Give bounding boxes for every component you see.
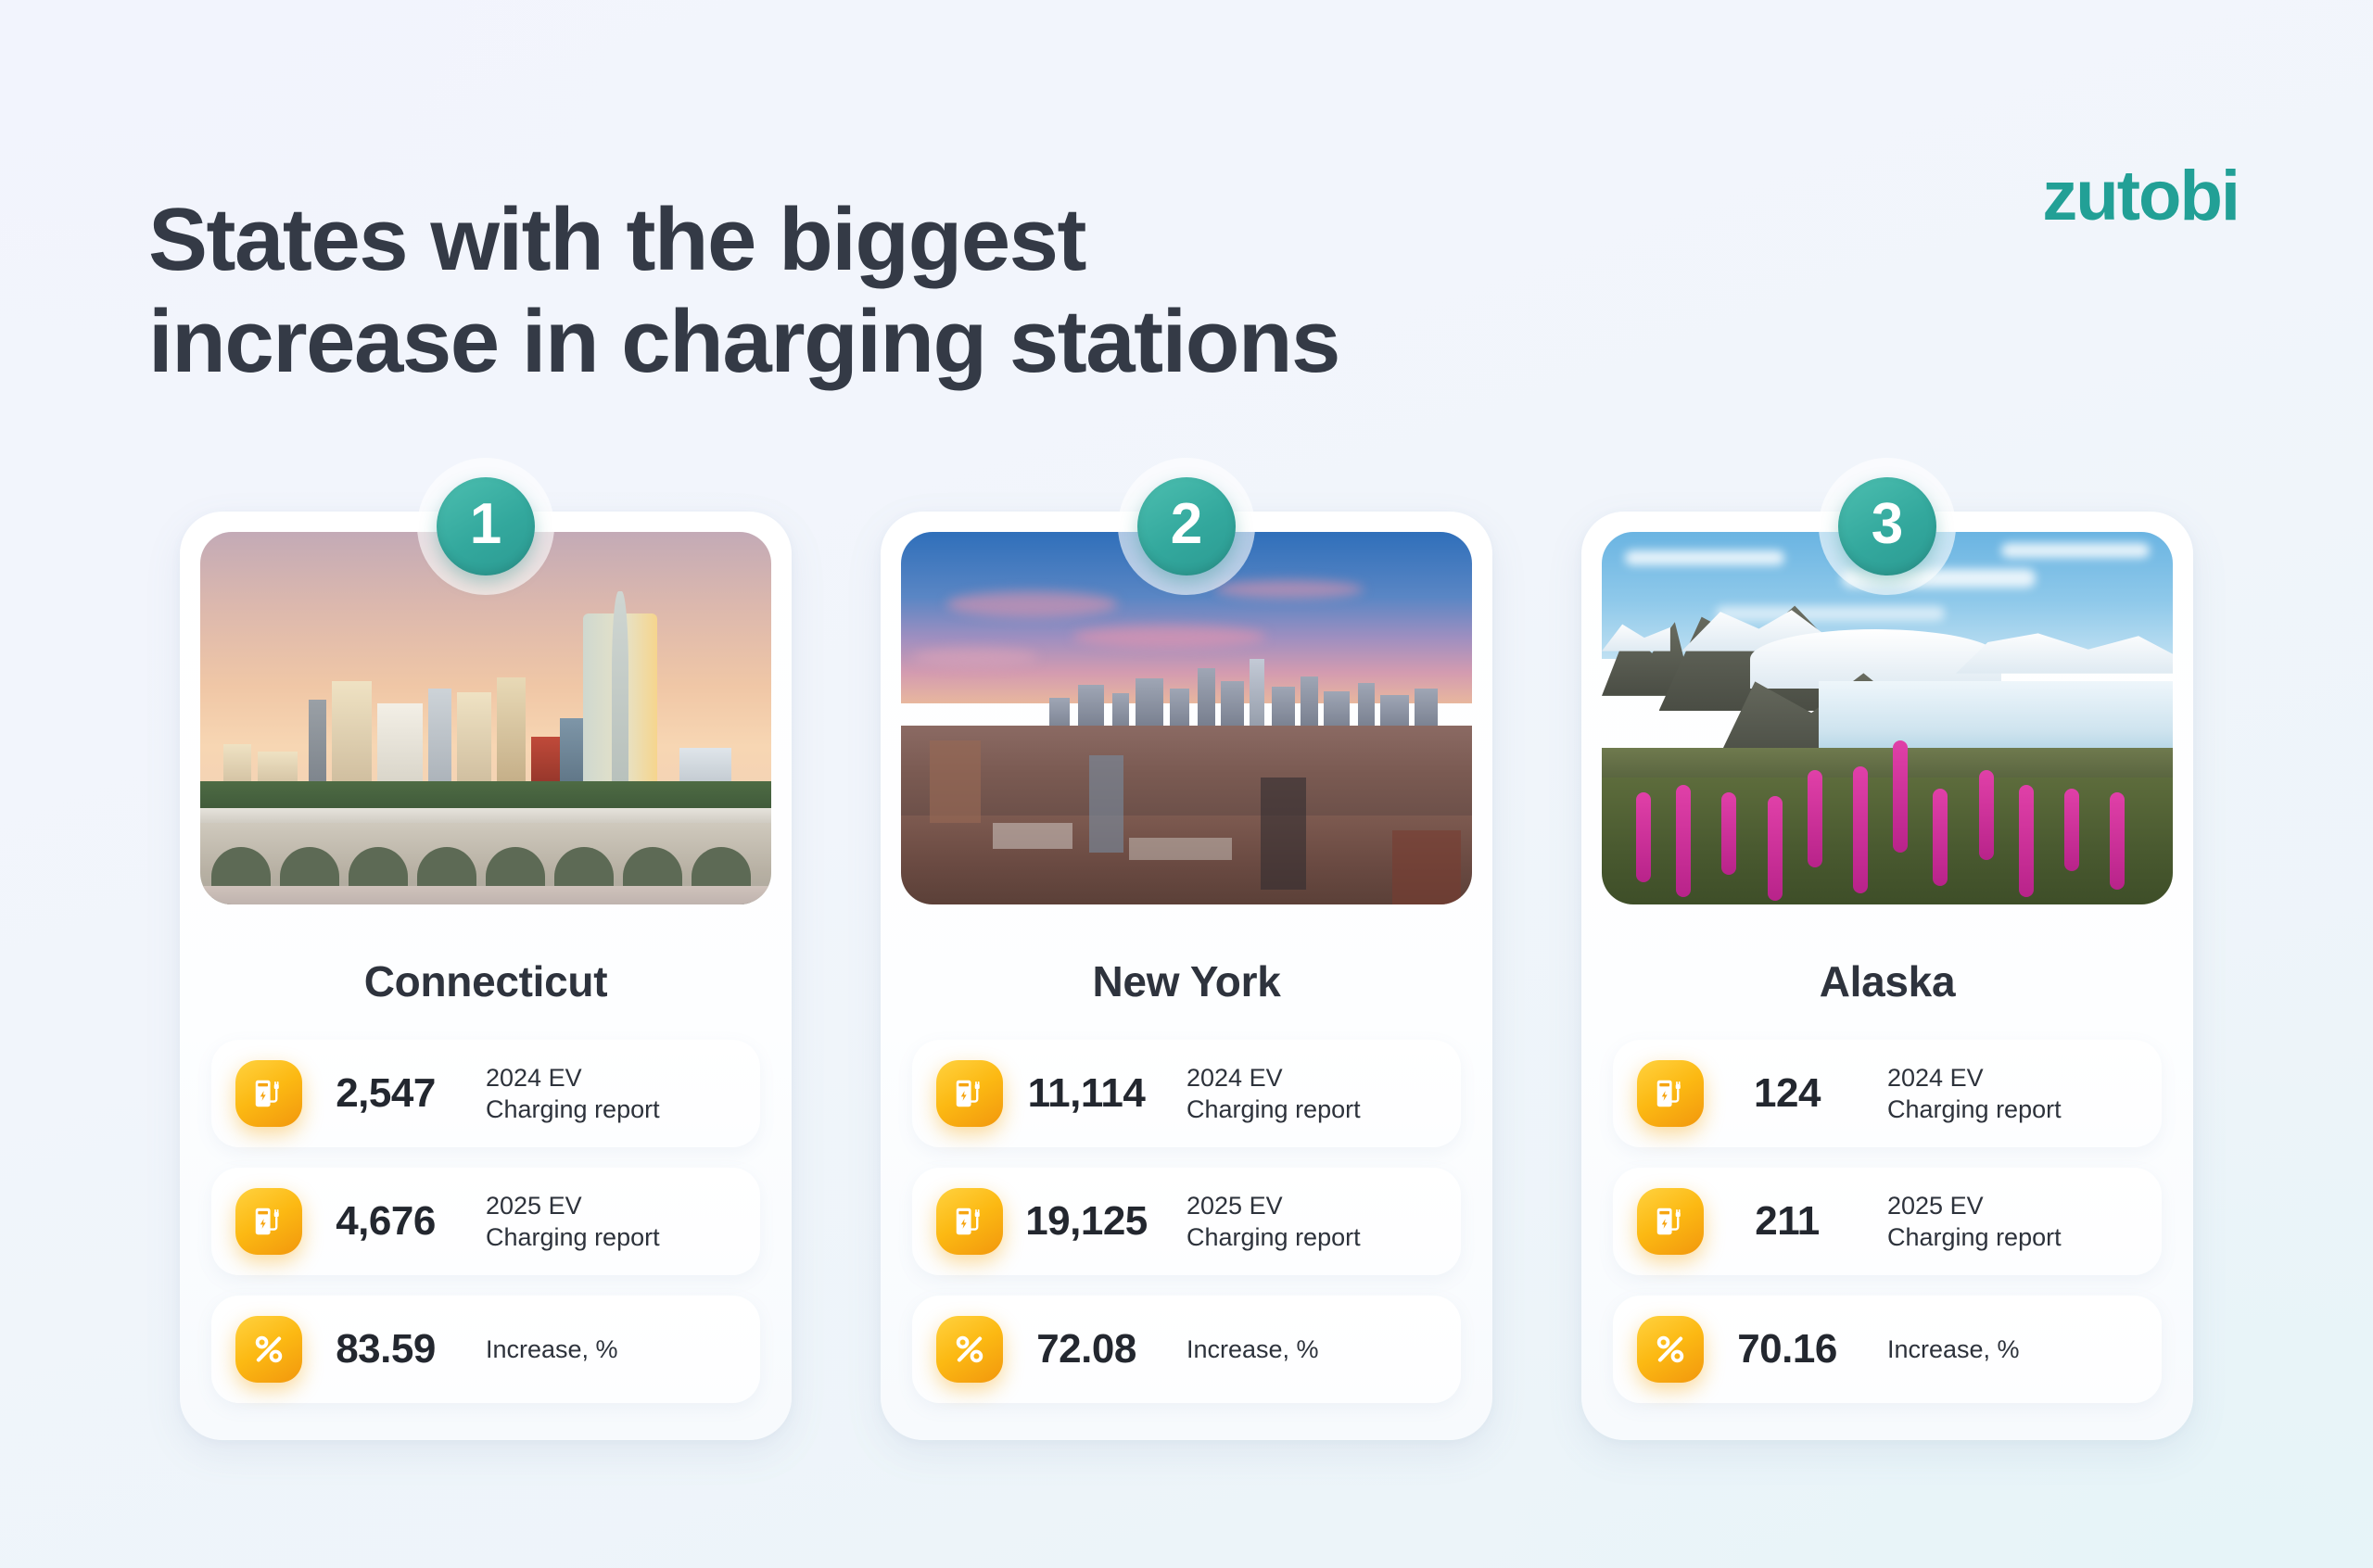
state-name-2: New York [901,956,1472,1006]
stat-label-line-1: 2025 EV [1186,1190,1437,1221]
stat-label-line-1: 2024 EV [1887,1062,2138,1094]
stat-label: Increase, % [1170,1334,1437,1365]
stat-label-line-2: Charging report [1887,1094,2138,1125]
stat-label-line-2: Charging report [1186,1094,1437,1125]
stat-label-line-1: 2024 EV [486,1062,736,1094]
stat-label: 2024 EV Charging report [1170,1062,1437,1125]
page-title-line-1: States with the biggest [148,189,1724,290]
ev-charging-station-icon [235,1188,302,1255]
ev-charging-station-icon [1637,1060,1704,1127]
stat-value: 2,547 [302,1070,469,1117]
stat-label-line-1: Increase, % [1186,1334,1437,1365]
state-card-3: 3 [1581,512,2193,1440]
stat-value: 124 [1704,1070,1871,1117]
state-name-1: Connecticut [200,956,771,1006]
rank-badge-1: 1 [417,458,554,595]
stat-label-line-1: Increase, % [1887,1334,2138,1365]
stat-value: 70.16 [1704,1326,1871,1372]
stat-label: 2025 EV Charging report [1871,1190,2138,1253]
stat-label-line-2: Charging report [486,1221,736,1253]
stat-row-2024-3: 124 2024 EV Charging report [1613,1040,2162,1147]
rank-badge-number-1: 1 [437,477,535,575]
stat-row-2025-2: 19,125 2025 EV Charging report [912,1168,1461,1275]
state-cards-row: 1 [0,512,2373,1440]
stat-row-increase-2: 72.08 Increase, % [912,1296,1461,1403]
stat-row-increase-3: 70.16 Increase, % [1613,1296,2162,1403]
stat-label-line-1: 2025 EV [486,1190,736,1221]
stat-label-line-1: 2025 EV [1887,1190,2138,1221]
ev-charging-station-icon [1637,1188,1704,1255]
zutobi-logo: zutobi [2042,156,2239,236]
stat-row-2024-2: 11,114 2024 EV Charging report [912,1040,1461,1147]
percent-icon [235,1316,302,1383]
stat-label: Increase, % [1871,1334,2138,1365]
stat-value: 4,676 [302,1198,469,1245]
state-card-1: 1 [180,512,792,1440]
page-title-line-2: increase in charging stations [148,291,1724,392]
rank-badge-2: 2 [1118,458,1255,595]
stat-label-line-1: 2024 EV [1186,1062,1437,1094]
page-title: States with the biggest increase in char… [148,189,1724,392]
stat-label: 2025 EV Charging report [469,1190,736,1253]
stat-label-line-1: Increase, % [486,1334,736,1365]
percent-icon [936,1316,1003,1383]
percent-icon [1637,1316,1704,1383]
stat-value: 72.08 [1003,1326,1170,1372]
state-name-3: Alaska [1602,956,2173,1006]
state-card-2: 2 [881,512,1492,1440]
stat-value: 211 [1704,1198,1871,1245]
stat-row-increase-1: 83.59 Increase, % [211,1296,760,1403]
stat-row-2024-1: 2,547 2024 EV Charging report [211,1040,760,1147]
stat-value: 83.59 [302,1326,469,1372]
infographic-page: States with the biggest increase in char… [0,0,2373,1568]
rank-badge-3: 3 [1819,458,1956,595]
stat-label: 2024 EV Charging report [469,1062,736,1125]
stat-value: 11,114 [1003,1070,1170,1117]
ev-charging-station-icon [936,1188,1003,1255]
stat-label: Increase, % [469,1334,736,1365]
stat-label-line-2: Charging report [1887,1221,2138,1253]
stat-label-line-2: Charging report [1186,1221,1437,1253]
ev-charging-station-icon [936,1060,1003,1127]
rank-badge-number-2: 2 [1137,477,1236,575]
stat-value: 19,125 [1003,1198,1170,1245]
stat-label: 2024 EV Charging report [1871,1062,2138,1125]
stat-row-2025-1: 4,676 2025 EV Charging report [211,1168,760,1275]
ev-charging-station-icon [235,1060,302,1127]
rank-badge-number-3: 3 [1838,477,1936,575]
stat-row-2025-3: 211 2025 EV Charging report [1613,1168,2162,1275]
stat-label-line-2: Charging report [486,1094,736,1125]
stat-label: 2025 EV Charging report [1170,1190,1437,1253]
